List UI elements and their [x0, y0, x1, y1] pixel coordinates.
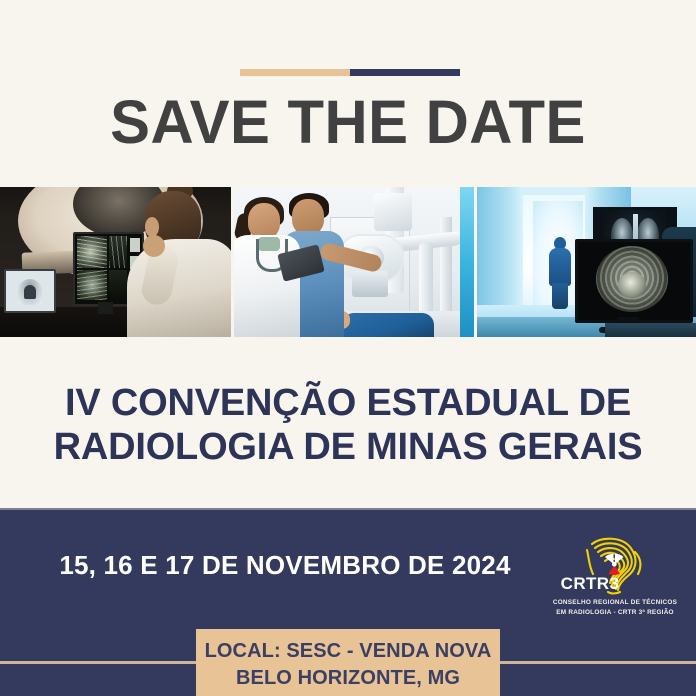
photo-hospital-corridor-ct-monitor: [477, 187, 696, 337]
two-tone-divider: [240, 69, 460, 76]
radiologist-hand: [143, 235, 165, 257]
poster-header: SAVE THE DATE: [0, 0, 696, 187]
photo-radiologist-ct-workstation: [0, 187, 231, 337]
xray-ceiling-mount: [374, 193, 412, 231]
ct-sagittal-image: [109, 236, 127, 268]
event-title-section: IV CONVENÇÃO ESTADUAL DE RADIOLOGIA DE M…: [0, 337, 696, 508]
photo-strip: [0, 187, 696, 337]
venue-box: LOCAL: SESC - VENDA NOVA BELO HORIZONTE,…: [196, 629, 500, 696]
save-the-date-title: SAVE THE DATE: [7, 92, 689, 153]
female-technician-head: [248, 203, 280, 239]
photo-technicians-xray-machine: [234, 187, 474, 337]
corridor-left-wall: [477, 187, 523, 307]
crtr3-logo: CRTR3 CONSELHO REGIONAL DE TÉCNICOS EM R…: [545, 534, 685, 630]
patient-on-table: [342, 313, 434, 337]
crtr3-subtitle: CONSELHO REGIONAL DE TÉCNICOS EM RADIOLO…: [545, 598, 685, 618]
monitor-stand: [98, 302, 113, 314]
crtr3-subtitle-line-2: EM RADIOLOGIA - CRTR 3ª REGIÃO: [545, 608, 685, 618]
walking-technician-body: [549, 248, 571, 286]
event-title-line-1: IV CONVENÇÃO ESTADUAL DE: [0, 381, 696, 425]
event-title: IV CONVENÇÃO ESTADUAL DE RADIOLOGIA DE M…: [0, 381, 696, 470]
event-title-line-2: RADIOLOGIA DE MINAS GERAIS: [0, 425, 696, 469]
venue-line-2: BELO HORIZONTE, MG: [236, 667, 460, 689]
ct-abdomen-slice: [596, 246, 668, 312]
divider-navy-half: [350, 69, 460, 76]
xray-thumbnail: [18, 279, 42, 305]
crtr3-acronym: CRTR3: [551, 574, 629, 594]
secondary-monitor: [4, 269, 56, 313]
ct-slice-image: [77, 236, 107, 268]
workstation-keyboard: [605, 323, 696, 337]
ct-thumbnail-1: [130, 238, 140, 252]
crtr3-subtitle-line-1: CONSELHO REGIONAL DE TÉCNICOS: [545, 598, 685, 608]
ct-axial-image: [77, 270, 107, 300]
male-technician-head: [292, 199, 324, 235]
walking-technician-legs: [552, 283, 568, 309]
radiologist-ear: [145, 217, 159, 237]
ct-display-monitor: [575, 239, 693, 323]
divider-tan-half: [240, 69, 350, 76]
walking-technician: [549, 237, 571, 307]
save-the-date-poster: SAVE THE DATE: [0, 0, 696, 696]
venue-line-1: LOCAL: SESC - VENDA NOVA: [205, 640, 492, 662]
xray-collimator: [352, 271, 388, 297]
band-top-edge: [0, 508, 696, 510]
ct-blank-pane: [109, 270, 127, 300]
event-date: 15, 16 E 17 DE NOVEMBRO DE 2024: [30, 550, 540, 581]
photo2-blue-edge: [460, 187, 474, 337]
